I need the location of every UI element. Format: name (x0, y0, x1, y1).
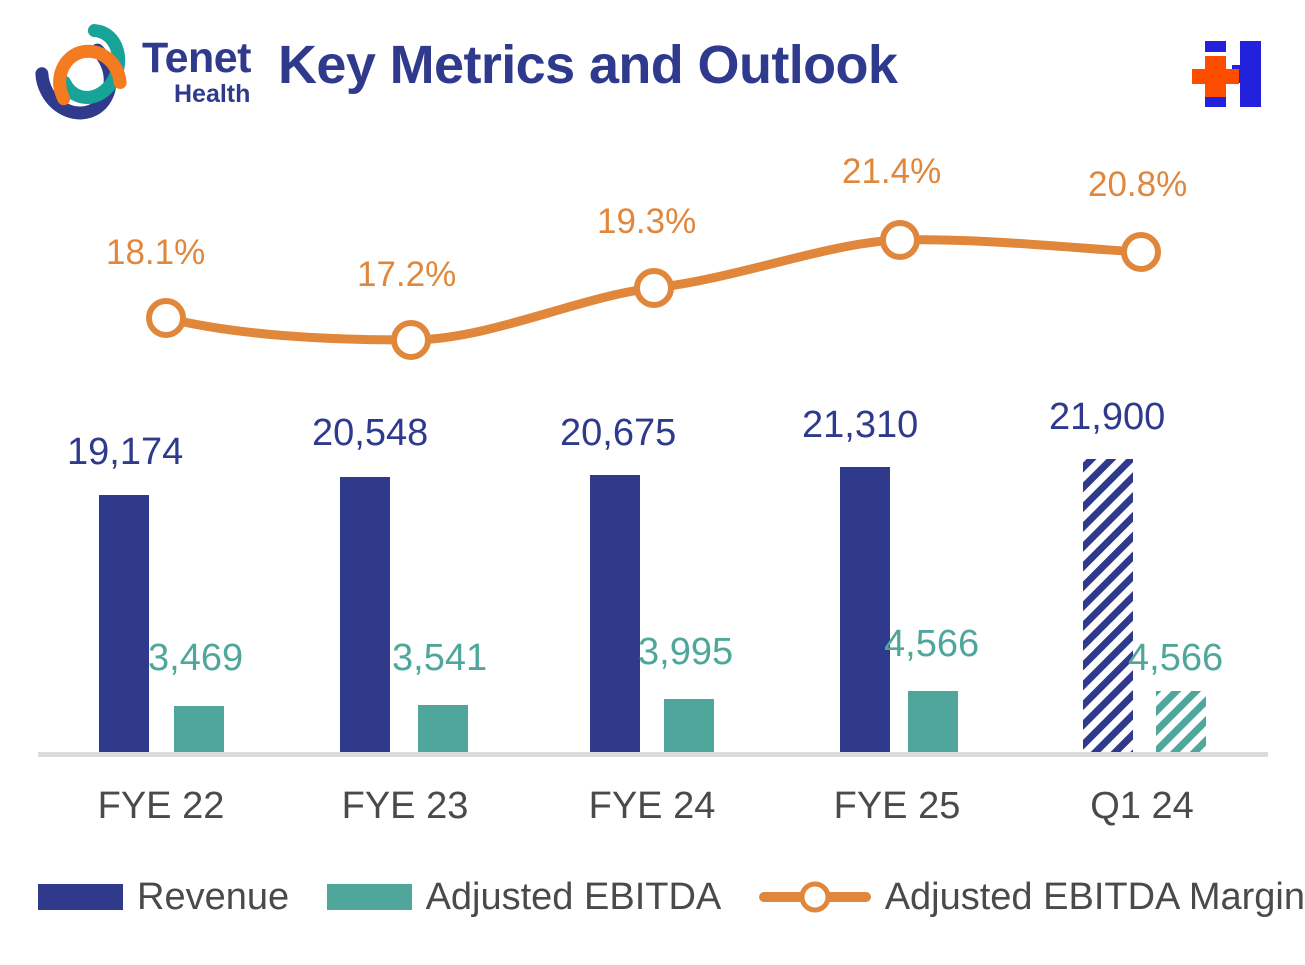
hospital-cross-h-icon (1188, 40, 1262, 108)
legend-label-adjusted-ebitda-margin: Adjusted EBITDA Margin (885, 876, 1305, 918)
margin-value-q124: 20.8% (1088, 165, 1187, 205)
margin-value-fye23: 17.2% (357, 255, 456, 295)
x-axis-label-q124: Q1 24 (1017, 785, 1267, 828)
margin-marker-fye25 (883, 223, 917, 257)
page-title: Key Metrics and Outlook (278, 34, 897, 96)
margin-value-fye25: 21.4% (842, 152, 941, 192)
bar-revenue-fye23 (340, 477, 390, 752)
margin-marker-fye24 (637, 271, 671, 305)
x-axis-label-fye25: FYE 25 (772, 785, 1022, 828)
margin-value-fye22: 18.1% (106, 233, 205, 273)
bar-revenue-fye24 (590, 475, 640, 752)
x-axis-label-fye22: FYE 22 (36, 785, 286, 828)
revenue-value-q124: 21,900 (1049, 396, 1165, 439)
ebitda-value-q124: 4,566 (1128, 637, 1223, 680)
legend-label-revenue: Revenue (137, 876, 289, 918)
legend-swatch-revenue (38, 884, 123, 910)
bar-ebitda-fye23 (418, 705, 468, 752)
x-axis-label-fye23: FYE 23 (280, 785, 530, 828)
margin-marker-fye23 (394, 323, 428, 357)
ebitda-value-fye24: 3,995 (638, 631, 733, 674)
bar-revenue-q124 (1083, 459, 1133, 752)
legend-swatch-adjusted-ebitda (327, 884, 412, 910)
x-axis-label-fye24: FYE 24 (527, 785, 777, 828)
ebitda-value-fye25: 4,566 (884, 623, 979, 666)
revenue-value-fye23: 20,548 (312, 412, 428, 455)
bar-revenue-fye25 (840, 467, 890, 752)
legend-item-adjusted-ebitda-margin[interactable]: Adjusted EBITDA Margin (759, 876, 1305, 918)
tenet-health-logo-icon (28, 24, 140, 124)
ebitda-value-fye23: 3,541 (392, 637, 487, 680)
margin-marker-q124 (1124, 235, 1158, 269)
margin-marker-fye22 (149, 301, 183, 335)
revenue-value-fye25: 21,310 (802, 404, 918, 447)
legend-item-revenue[interactable]: Revenue (38, 876, 289, 918)
legend-label-adjusted-ebitda: Adjusted EBITDA (426, 876, 722, 918)
axis-baseline (38, 752, 1268, 757)
chart-plot-area: 18.1% 17.2% 19.3% 21.4% 20.8% 19,174 20,… (0, 140, 1305, 840)
slide-canvas: Tenet Health Key Metrics and Outlook (0, 0, 1305, 965)
wordmark-health: Health (142, 80, 272, 108)
bar-ebitda-fye25 (908, 691, 958, 752)
bar-ebitda-fye24 (664, 699, 714, 752)
margin-value-fye24: 19.3% (597, 202, 696, 242)
tenet-health-wordmark: Tenet Health (142, 36, 272, 116)
bar-ebitda-q124 (1156, 691, 1206, 752)
bar-revenue-fye22 (99, 495, 149, 752)
legend-item-adjusted-ebitda[interactable]: Adjusted EBITDA (327, 876, 722, 918)
bar-ebitda-fye22 (174, 706, 224, 752)
revenue-value-fye24: 20,675 (560, 412, 676, 455)
wordmark-tenet: Tenet (142, 36, 272, 80)
chart-legend: Revenue Adjusted EBITDA Adjusted EBITDA … (0, 862, 1305, 932)
revenue-value-fye22: 19,174 (67, 431, 183, 474)
ebitda-value-fye22: 3,469 (148, 637, 243, 680)
legend-line-marker-icon (759, 880, 871, 914)
slide-header: Tenet Health Key Metrics and Outlook (0, 0, 1305, 140)
